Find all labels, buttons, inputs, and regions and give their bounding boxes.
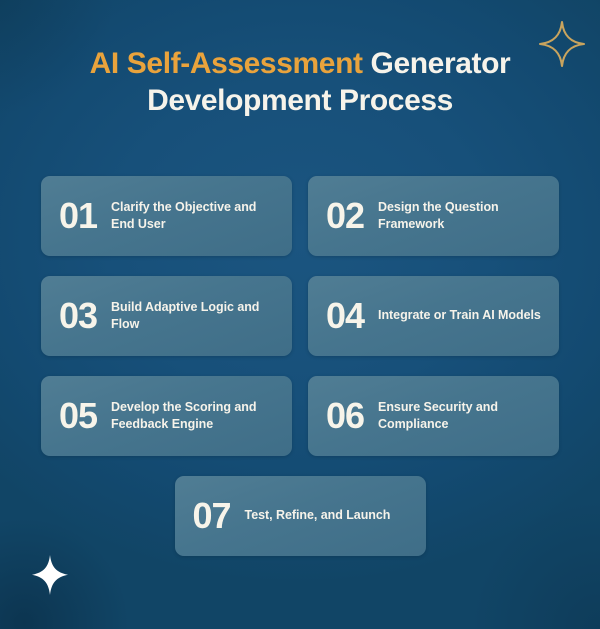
page-title: AI Self-Assessment Generator Development… [0, 46, 600, 119]
step-label: Test, Refine, and Launch [245, 507, 391, 524]
step-card-07[interactable]: 07 Test, Refine, and Launch [175, 476, 426, 556]
step-label: Build Adaptive Logic and Flow [111, 299, 278, 334]
step-card-06[interactable]: 06 Ensure Security and Compliance [308, 376, 559, 456]
step-label: Design the Question Framework [378, 199, 545, 234]
title-line-1: AI Self-Assessment Generator [26, 46, 574, 83]
step-number: 02 [326, 198, 364, 234]
title-accent-text: AI Self-Assessment [90, 47, 363, 80]
step-number: 05 [59, 398, 97, 434]
steps-grid: 01 Clarify the Objective and End User 02… [41, 176, 559, 556]
step-number: 06 [326, 398, 364, 434]
step-card-05[interactable]: 05 Develop the Scoring and Feedback Engi… [41, 376, 292, 456]
step-number: 03 [59, 298, 97, 334]
step-card-01[interactable]: 01 Clarify the Objective and End User [41, 176, 292, 256]
step-label: Ensure Security and Compliance [378, 399, 545, 434]
step-label: Develop the Scoring and Feedback Engine [111, 399, 278, 434]
title-line-2: Development Process [26, 83, 574, 120]
step-label: Clarify the Objective and End User [111, 199, 278, 234]
step-number: 04 [326, 298, 364, 334]
infographic-poster: AI Self-Assessment Generator Development… [0, 0, 600, 629]
step-card-04[interactable]: 04 Integrate or Train AI Models [308, 276, 559, 356]
step-number: 07 [193, 498, 231, 534]
sparkle-solid-icon [30, 553, 70, 597]
title-rest-text: Generator [363, 47, 511, 80]
step-card-03[interactable]: 03 Build Adaptive Logic and Flow [41, 276, 292, 356]
step-number: 01 [59, 198, 97, 234]
step-card-02[interactable]: 02 Design the Question Framework [308, 176, 559, 256]
step-label: Integrate or Train AI Models [378, 307, 541, 324]
